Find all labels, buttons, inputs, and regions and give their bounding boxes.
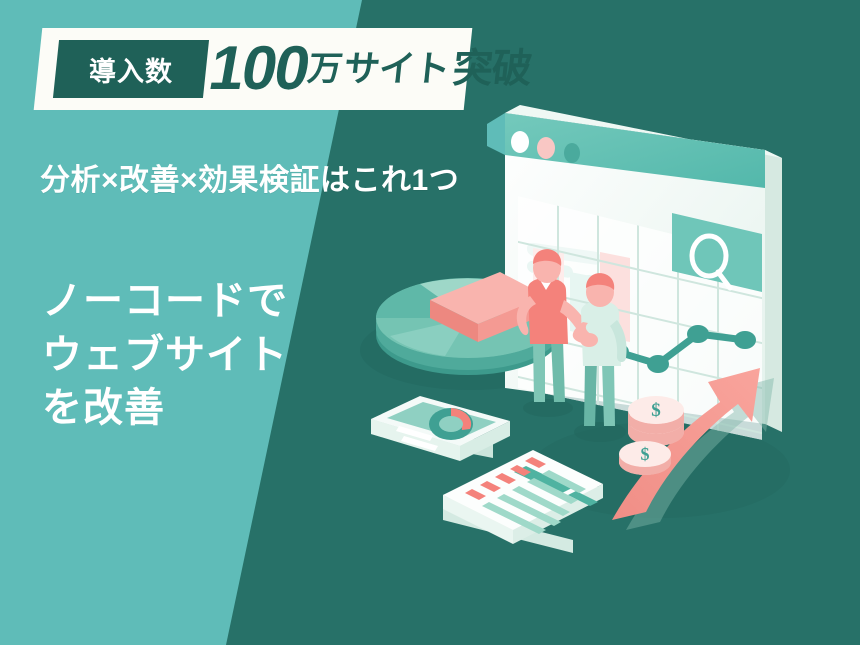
headline-line-3: を改善 xyxy=(42,382,288,436)
headline-line-2: ウェブサイト xyxy=(42,329,288,383)
headline-badge: 導入数 100 万 サイト 突破 xyxy=(34,28,473,110)
badge-tail: サイト xyxy=(343,51,452,87)
page-title: ノーコードで ウェブサイト を改善 xyxy=(42,275,288,436)
badge-unit: 万 xyxy=(306,52,345,86)
badge-main-text: 100 万 サイト 突破 xyxy=(209,34,533,104)
badge-label-box: 導入数 xyxy=(53,40,209,98)
badge-end: 突破 xyxy=(451,49,533,89)
subtitle: 分析×改善×効果検証はこれ1つ xyxy=(40,155,459,199)
badge-label-text: 導入数 xyxy=(56,40,206,98)
headline-line-1: ノーコードで xyxy=(42,275,288,329)
promo-banner: $ $ xyxy=(0,0,860,645)
badge-number: 100 xyxy=(205,38,313,100)
